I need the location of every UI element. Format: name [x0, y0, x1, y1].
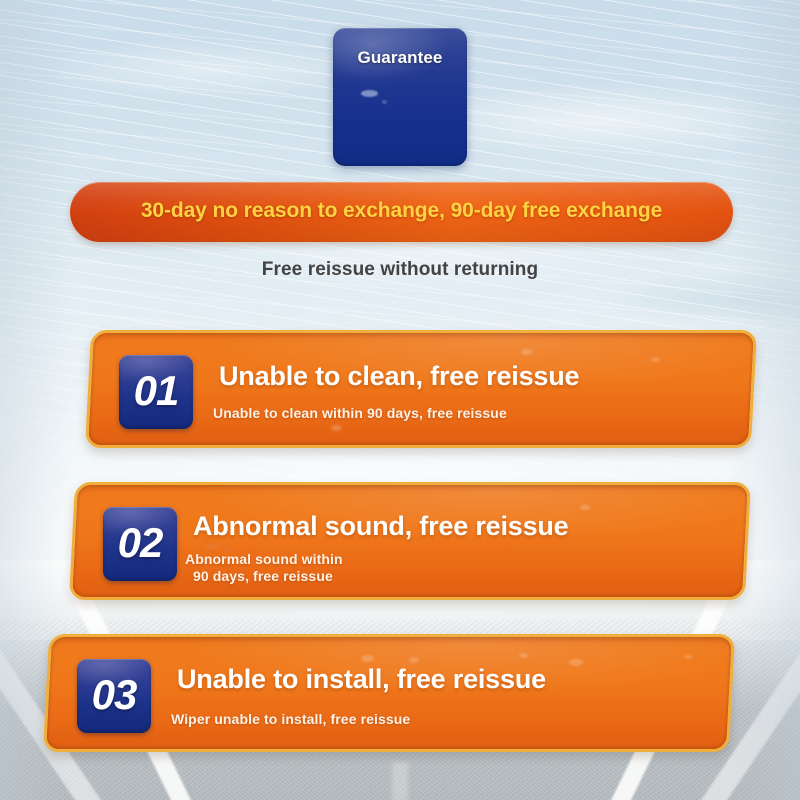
water-droplet-icon [651, 357, 660, 362]
guarantee-badge: Guarantee [333, 28, 467, 166]
card-number-badge-03: 03 [77, 659, 151, 733]
card-title-02: Abnormal sound, free reissue [193, 511, 569, 542]
water-droplet-icon-2 [382, 100, 387, 104]
card-title-03: Unable to install, free reissue [177, 664, 546, 695]
card-number-01: 01 [119, 367, 193, 415]
card-subtitle-03: Wiper unable to install, free reissue [171, 711, 410, 728]
water-droplet-icon [361, 90, 378, 97]
infographic-poster: Guarantee 30-day no reason to exchange, … [0, 0, 800, 800]
guarantee-badge-label: Guarantee [333, 48, 467, 68]
card-subtitle-02-line1: Abnormal sound within [185, 551, 343, 567]
card-subtitle-02: Abnormal sound within 90 days, free reis… [185, 551, 343, 585]
card-number-badge-02: 02 [103, 507, 177, 581]
water-droplet-icon [331, 425, 342, 431]
water-droplet-icon [409, 657, 419, 663]
headline-banner: 30-day no reason to exchange, 90-day fre… [70, 182, 733, 242]
benefit-card-02: 02 Abnormal sound, free reissue Abnormal… [69, 482, 751, 600]
water-droplet-icon [521, 349, 533, 355]
water-droplet-icon [569, 659, 583, 666]
subtitle-text: Free reissue without returning [0, 259, 800, 281]
benefit-card-01: 01 Unable to clean, free reissue Unable … [85, 330, 757, 448]
card-subtitle-01: Unable to clean within 90 days, free rei… [213, 405, 507, 422]
card-subtitle-01-line1: Unable to clean within 90 days, free rei… [213, 405, 507, 421]
card-subtitle-03-line1: Wiper unable to install, free reissue [171, 711, 410, 727]
headline-text: 30-day no reason to exchange, 90-day fre… [70, 199, 733, 223]
water-droplet-icon [361, 655, 374, 662]
water-droplet-icon [684, 655, 692, 659]
card-number-02: 02 [103, 519, 177, 567]
card-subtitle-02-line2: 90 days, free reissue [185, 568, 343, 585]
card-number-badge-01: 01 [119, 355, 193, 429]
water-droplet-icon [519, 653, 528, 658]
benefit-card-03: 03 Unable to install, free reissue Wiper… [43, 634, 735, 752]
card-number-03: 03 [77, 671, 151, 719]
water-droplet-icon [205, 543, 219, 550]
water-droplet-icon [580, 505, 590, 510]
card-title-01: Unable to clean, free reissue [219, 361, 579, 392]
